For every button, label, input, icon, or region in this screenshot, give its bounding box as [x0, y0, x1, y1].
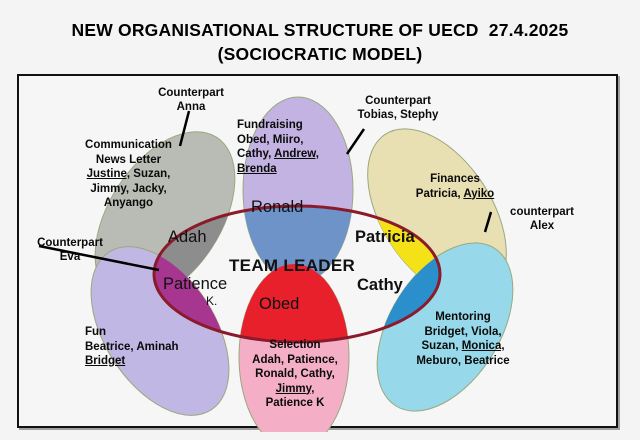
petal-label-finances: Finances Patricia, Ayiko	[395, 172, 515, 201]
core-name-obed: Obed	[259, 295, 299, 314]
diagram-page: NEW ORGANISATIONAL STRUCTURE OF UECD 27.…	[0, 0, 640, 440]
underline-jimmy: Jimmy,	[276, 383, 315, 395]
core-name-adah: Adah	[168, 228, 207, 247]
petal-label-fun: Fun Beatrice, Aminah Bridget	[85, 325, 205, 369]
counterpart-note-anna: Counterpart Anna	[136, 86, 246, 114]
title-line-1: NEW ORGANISATIONAL STRUCTURE OF UECD 27.…	[0, 18, 640, 42]
core-name-ronald: Ronald	[251, 198, 303, 217]
diagram-title: NEW ORGANISATIONAL STRUCTURE OF UECD 27.…	[0, 18, 640, 66]
core-name-patience-suffix: K.	[206, 294, 217, 308]
petal-label-communication: Communication News Letter Justine, Suzan…	[66, 138, 191, 211]
counterpart-note-tobias-stephy: Counterpart Tobias, Stephy	[338, 94, 458, 122]
core-name-patience: Patience	[163, 275, 227, 294]
underline-justine: Justine,	[87, 168, 130, 180]
counterpart-note-eva: Counterpart Eva	[22, 236, 118, 264]
leader-line-tobias	[347, 129, 364, 154]
petal-label-fundraising: Fundraising Obed, Miiro, Cathy, Andrew, …	[237, 118, 337, 176]
underline-brenda: Brenda	[237, 163, 277, 175]
underline-bridget: Bridget	[85, 355, 125, 367]
core-name-cathy: Cathy	[357, 276, 403, 295]
petal-label-selection: Selection Adah, Patience, Ronald, Cathy,…	[240, 338, 350, 411]
title-line-2: (SOCIOCRATIC MODEL)	[0, 42, 640, 66]
core-name-patricia: Patricia	[355, 228, 415, 247]
underline-andrew: Andrew,	[274, 148, 319, 160]
team-leader-label: TEAM LEADER	[229, 256, 355, 276]
counterpart-note-alex: counterpart Alex	[494, 205, 590, 233]
petal-label-mentoring: Mentoring Bridget, Viola, Suzan, Monica,…	[398, 310, 528, 368]
underline-ayiko: Ayiko	[463, 188, 494, 200]
underline-monica: Monica,	[462, 340, 505, 352]
